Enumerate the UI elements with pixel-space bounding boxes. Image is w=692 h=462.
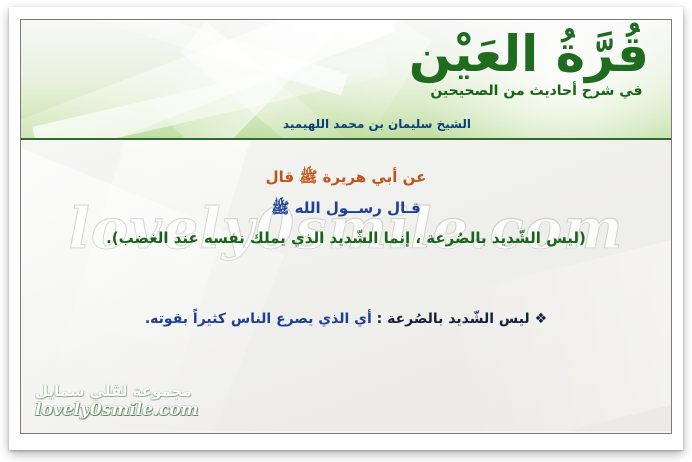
hadith-block: عن أبي هريرة ﷺ قال قـال رســول الله ﷺ (ل… <box>21 140 671 247</box>
hadith-said-line: قـال رســول الله ﷺ <box>21 199 671 221</box>
body-swoosh-3 <box>436 226 671 431</box>
bullet-icon: ❖ <box>535 311 548 327</box>
brand-arabic-label: مجموعة لڤلي سمايل <box>35 383 199 400</box>
card-header: قُرَّةُ العَيْن في شرح أحاديث من الصحيحي… <box>21 20 671 140</box>
site-logo: قُرَّةُ العَيْن في شرح أحاديث من الصحيحي… <box>424 28 649 99</box>
hadith-text-line: (ليس الشّديد بالصُرعة ، إنما الشّديد الذ… <box>21 229 671 247</box>
explanation-term: ليس الشّديد بالصُرعة : <box>377 311 530 327</box>
explanation-meaning: أي الذي يصرع الناس كثيراً بقوته. <box>145 311 372 327</box>
hadith-card: قُرَّةُ العَيْن في شرح أحاديث من الصحيحي… <box>20 19 672 434</box>
brand-latin-label: lovely0smile.com <box>35 401 199 421</box>
logo-title: قُرَّةُ العَيْن <box>424 28 649 81</box>
logo-subtitle: في شرح أحاديث من الصحيحين <box>424 83 649 99</box>
brand-watermark: مجموعة لڤلي سمايل lovely0smile.com <box>35 383 199 421</box>
card-body: lovely0smile.com عن أبي هريرة ﷺ قال قـال… <box>21 140 671 431</box>
hadith-narrator-line: عن أبي هريرة ﷺ قال <box>21 168 671 190</box>
page-root: قُرَّةُ العَيْن في شرح أحاديث من الصحيحي… <box>0 0 692 462</box>
explanation-block: ❖ ليس الشّديد بالصُرعة : أي الذي يصرع ال… <box>21 311 671 327</box>
author-name: الشيخ سليمان بن محمد اللهيميد <box>283 117 471 131</box>
